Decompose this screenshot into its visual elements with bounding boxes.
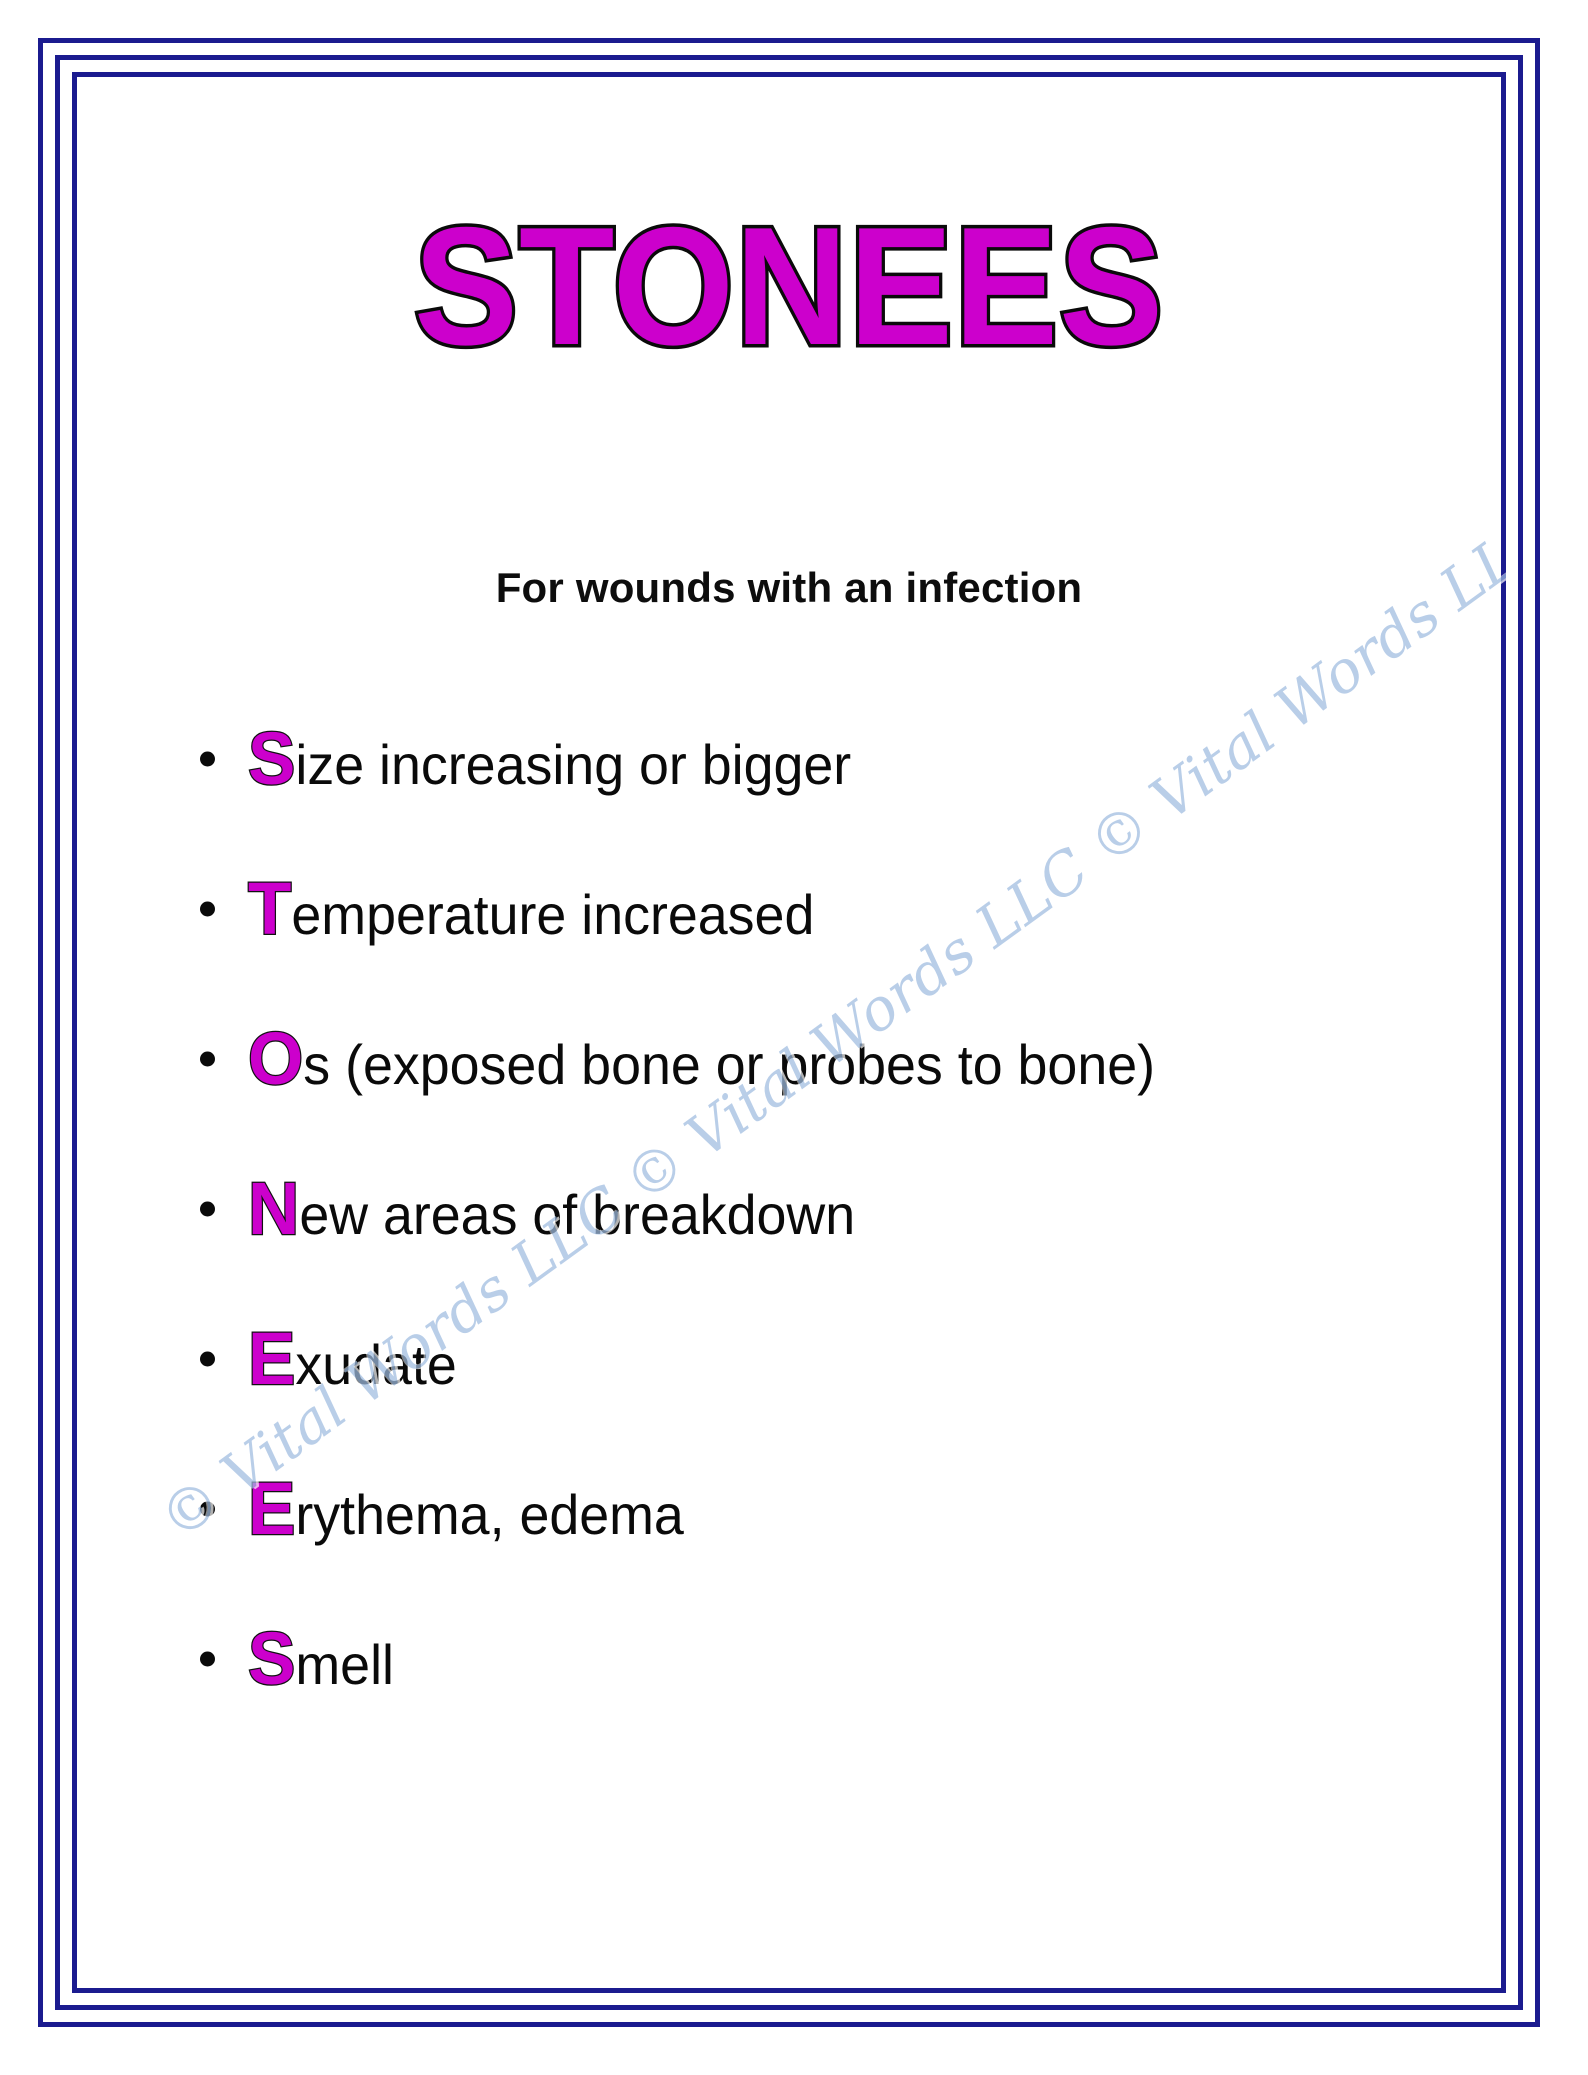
- list-item-initial: N: [248, 1167, 299, 1250]
- list-item-initial: E: [248, 1467, 295, 1550]
- list-item-rest: emperature increased: [291, 883, 814, 946]
- poster-content: STONEES For wounds with an infection Siz…: [72, 72, 1506, 1993]
- list-item-initial: T: [248, 867, 291, 950]
- bullet-icon: [200, 1202, 215, 1217]
- bullet-icon: [200, 902, 215, 917]
- list-item: Erythema, edema: [160, 1434, 1490, 1584]
- list-item-rest: s (exposed bone or probes to bone): [303, 1033, 1155, 1096]
- list-item-text: Exudate: [248, 1322, 457, 1396]
- page-subtitle: For wounds with an infection: [72, 564, 1506, 612]
- list-item: Size increasing or bigger: [160, 684, 1490, 834]
- list-item-text: Os (exposed bone or probes to bone): [248, 1022, 1155, 1096]
- list-item-rest: rythema, edema: [295, 1483, 683, 1546]
- bullet-icon: [200, 1352, 215, 1367]
- list-item: New areas of breakdown: [160, 1134, 1490, 1284]
- list-item-initial: E: [248, 1317, 295, 1400]
- page-title: STONEES: [122, 202, 1456, 370]
- list-item: Smell: [160, 1584, 1490, 1734]
- list-item-text: Erythema, edema: [248, 1472, 684, 1546]
- bullet-icon: [200, 1052, 215, 1067]
- list-item-text: Smell: [248, 1622, 394, 1696]
- list-item-rest: mell: [295, 1633, 394, 1696]
- list-item-rest: ew areas of breakdown: [299, 1183, 855, 1246]
- bullet-icon: [200, 1652, 215, 1667]
- list-item-text: Size increasing or bigger: [248, 722, 851, 796]
- list-item-text: Temperature increased: [248, 872, 814, 946]
- bullet-icon: [200, 1502, 215, 1517]
- list-item-initial: S: [248, 1617, 295, 1700]
- list-item: Os (exposed bone or probes to bone): [160, 984, 1490, 1134]
- poster-page: STONEES For wounds with an infection Siz…: [0, 0, 1588, 2075]
- list-item-initial: S: [248, 717, 295, 800]
- list-item: Exudate: [160, 1284, 1490, 1434]
- bullet-icon: [200, 752, 215, 767]
- list-item: Temperature increased: [160, 834, 1490, 984]
- list-item-initial: O: [248, 1017, 303, 1100]
- list-item-text: New areas of breakdown: [248, 1172, 855, 1246]
- list-item-rest: xudate: [295, 1333, 456, 1396]
- list-item-rest: ize increasing or bigger: [295, 733, 851, 796]
- acronym-list: Size increasing or bigger Temperature in…: [160, 684, 1490, 1734]
